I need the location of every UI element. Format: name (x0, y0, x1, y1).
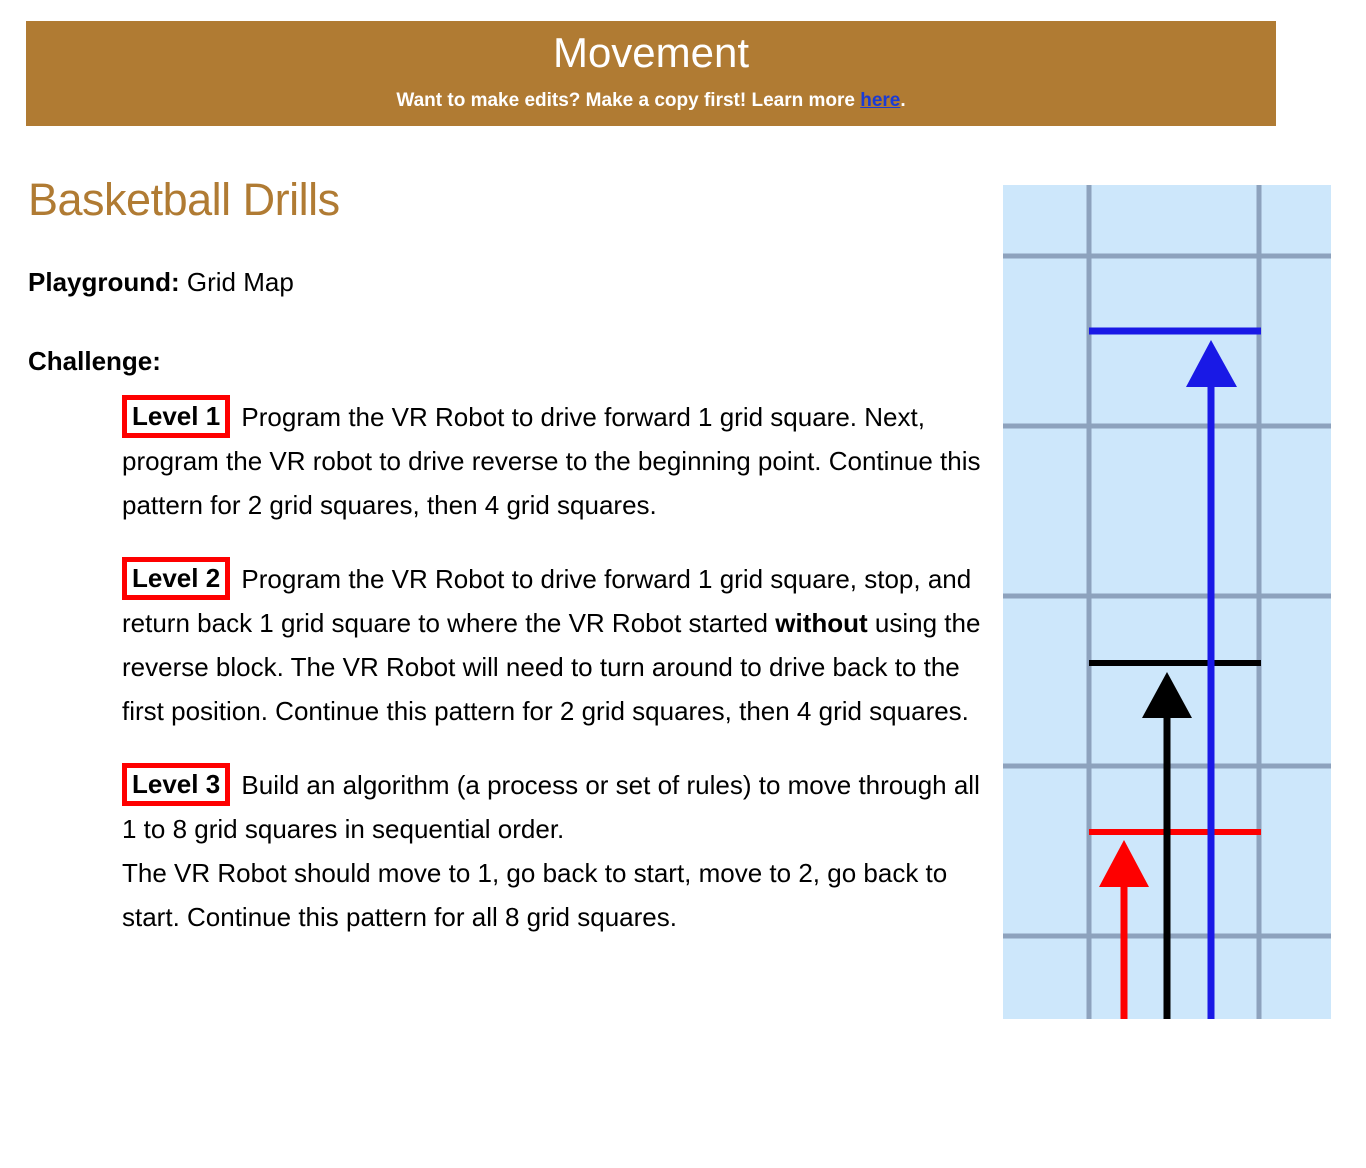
level-2-emphasis: without (775, 608, 867, 638)
banner-subtitle-period: . (900, 90, 905, 111)
learn-more-link[interactable]: here (860, 90, 900, 111)
banner-title: Movement (553, 32, 749, 74)
grid-map-figure (1003, 185, 1331, 1019)
banner-subtitle: Want to make edits? Make a copy first! L… (396, 90, 905, 112)
playground-row: Playground: Grid Map (28, 267, 988, 298)
banner-subtitle-text: Want to make edits? Make a copy first! L… (396, 90, 860, 111)
level-3-line-1: Build an algorithm (a process or set of … (122, 770, 980, 844)
level-3-tag: Level 3 (122, 763, 230, 806)
grid-map-svg (1003, 185, 1331, 1019)
level-1-block: Level 1 Program the VR Robot to drive fo… (122, 395, 988, 527)
challenge-label: Challenge: (28, 346, 988, 377)
level-3-line-2: The VR Robot should move to 1, go back t… (122, 858, 947, 932)
level-2-block: Level 2 Program the VR Robot to drive fo… (122, 557, 988, 733)
level-2-tag: Level 2 (122, 557, 230, 600)
level-3-block: Level 3 Build an algorithm (a process or… (122, 763, 988, 939)
playground-label: Playground: (28, 267, 180, 297)
page-title: Basketball Drills (28, 175, 988, 225)
main-content: Basketball Drills Playground: Grid Map C… (28, 175, 988, 939)
level-1-text: Program the VR Robot to drive forward 1 … (122, 402, 981, 520)
header-banner: Movement Want to make edits? Make a copy… (26, 21, 1276, 126)
playground-value: Grid Map (180, 267, 294, 297)
level-1-tag: Level 1 (122, 395, 230, 438)
levels-list: Level 1 Program the VR Robot to drive fo… (122, 395, 988, 939)
